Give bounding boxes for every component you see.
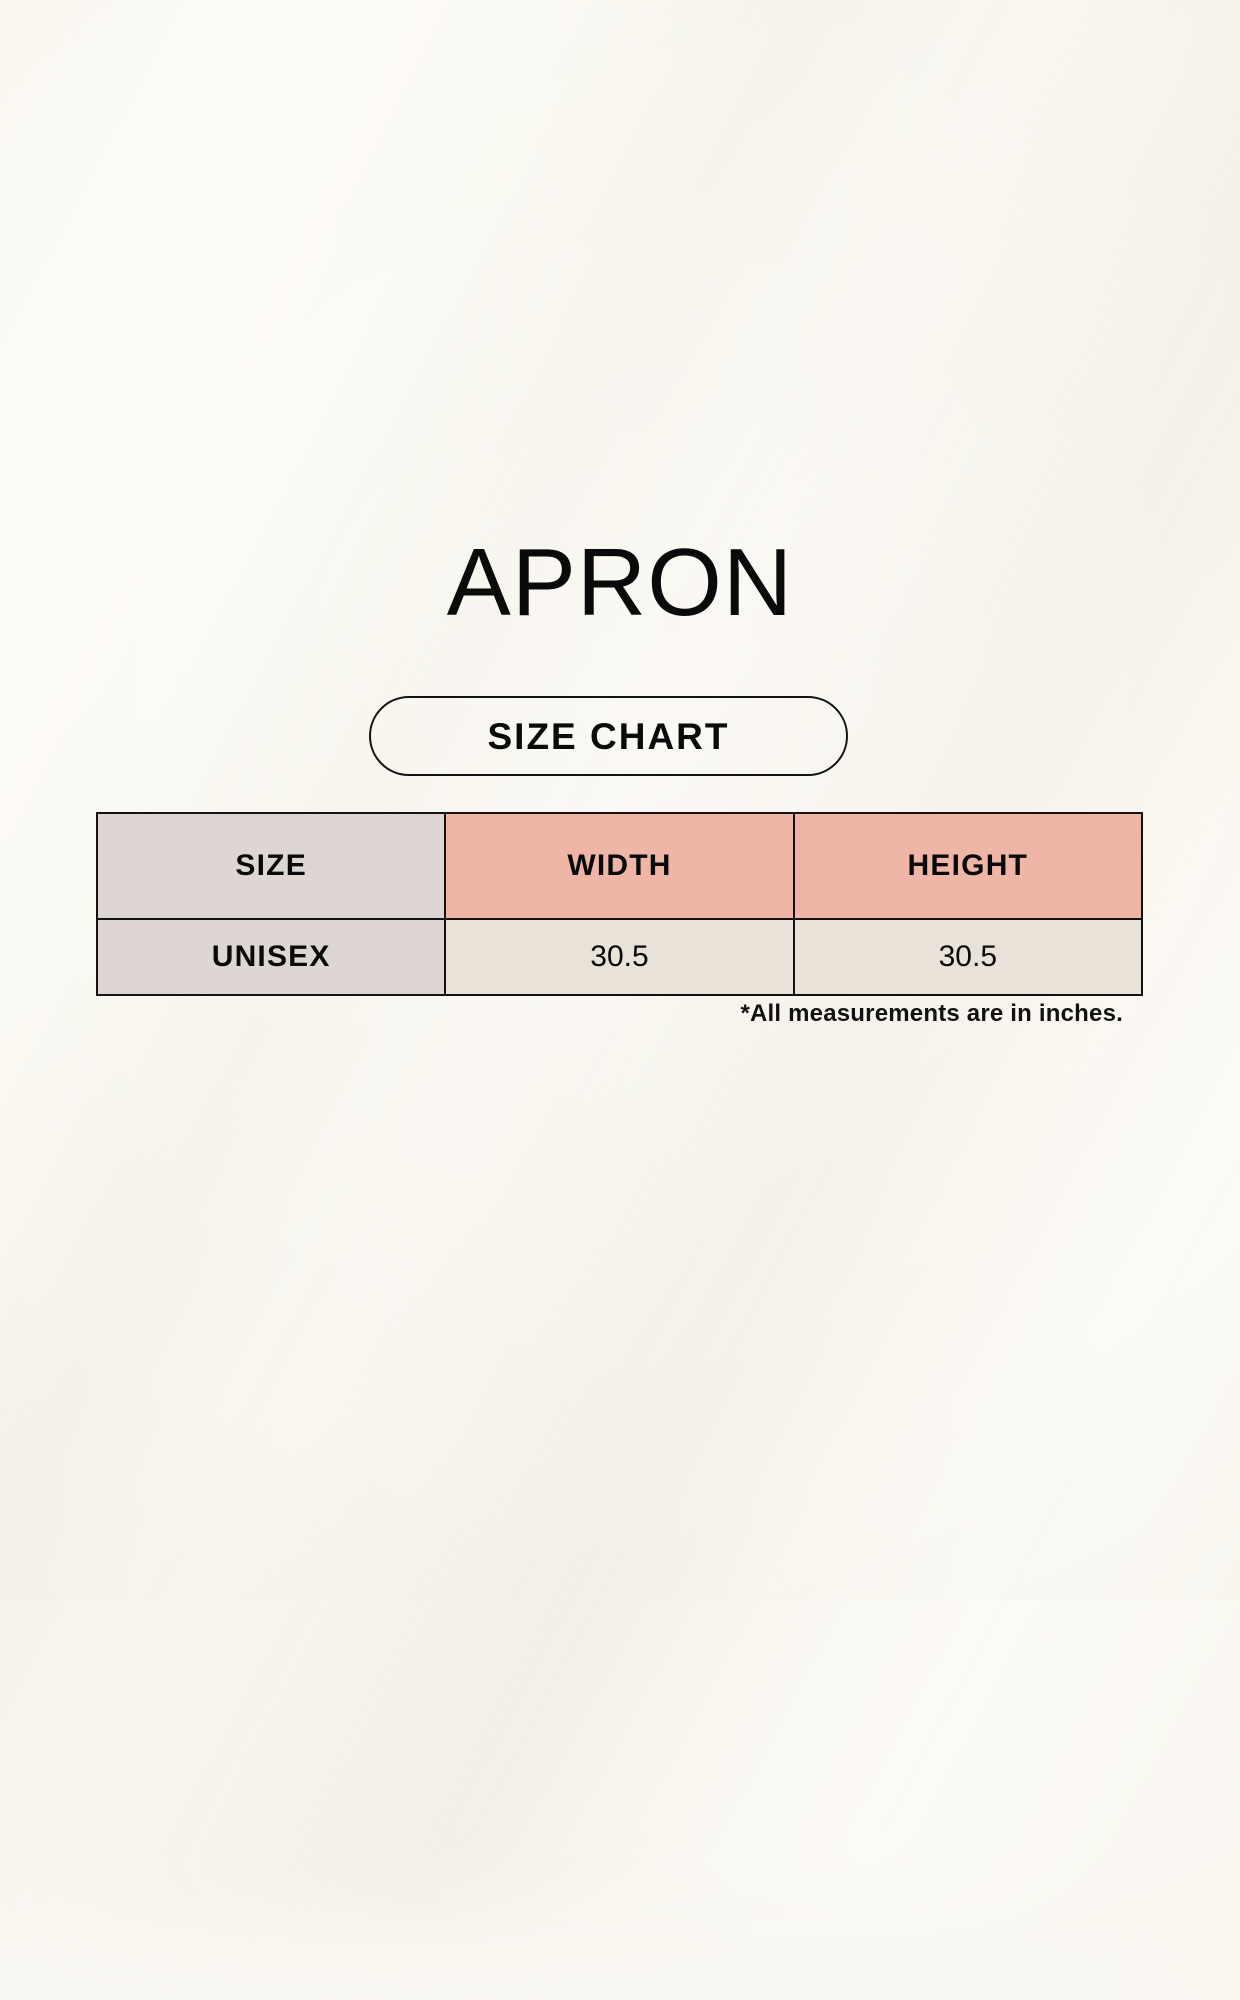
size-table-container: SIZE WIDTH HEIGHT UNISEX 30.5 30.5 [96, 812, 1143, 996]
column-header-size: SIZE [97, 813, 445, 919]
size-table-header: SIZE WIDTH HEIGHT [97, 813, 1142, 919]
size-chart-badge-label: SIZE CHART [488, 718, 730, 755]
cell-width-unisex: 30.5 [445, 919, 793, 995]
size-chart-badge: SIZE CHART [369, 696, 848, 776]
table-header-row: SIZE WIDTH HEIGHT [97, 813, 1142, 919]
cell-size-unisex: UNISEX [97, 919, 445, 995]
column-header-height: HEIGHT [794, 813, 1142, 919]
size-table: SIZE WIDTH HEIGHT UNISEX 30.5 30.5 [96, 812, 1143, 996]
cell-height-unisex: 30.5 [794, 919, 1142, 995]
measurement-units-note: *All measurements are in inches. [96, 1000, 1123, 1028]
page-title: APRON [0, 535, 1240, 631]
size-chart-page: APRON SIZE CHART SIZE WIDTH HEIGHT UNISE… [0, 0, 1240, 1600]
table-row: UNISEX 30.5 30.5 [97, 919, 1142, 995]
column-header-width: WIDTH [445, 813, 793, 919]
size-table-body: UNISEX 30.5 30.5 [97, 919, 1142, 995]
